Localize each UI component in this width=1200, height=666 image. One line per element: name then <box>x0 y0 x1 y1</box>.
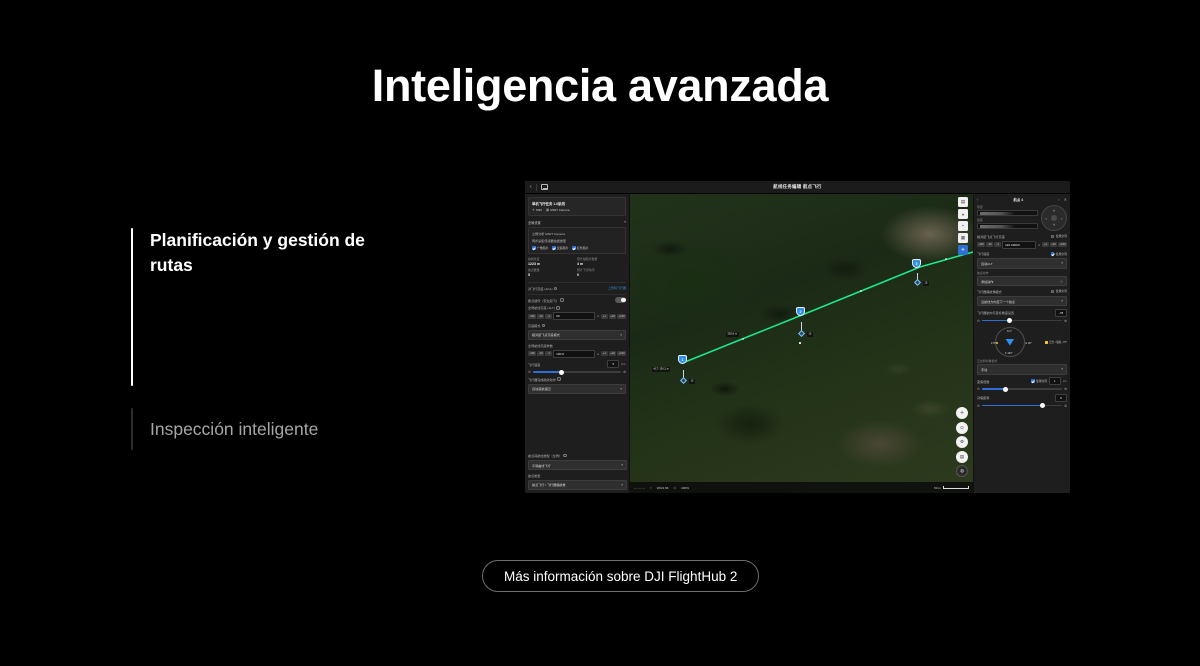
waypoint-pin[interactable]: 2 <box>796 307 805 316</box>
add-action-button[interactable]: 添加动作 ＋ <box>977 276 1067 286</box>
sidebar-item-route-planning[interactable]: Planificación y gestión de rutas <box>131 228 431 408</box>
payload-card: 立即分析 M30T Camera 同步采集传感器拍摄类型 广角照片 变焦照片 红… <box>528 227 626 254</box>
step-plus-100[interactable]: +100 <box>617 351 626 356</box>
coordinate-system-label: WGS 84 <box>657 486 669 490</box>
info-icon[interactable] <box>542 324 545 327</box>
stat-value: 5 <box>528 273 577 277</box>
sidebar-item-label: Planificación y gestión de rutas <box>150 228 382 278</box>
waypoint-1-poi[interactable] <box>681 378 686 383</box>
waypoint-2-sublabel: 15 <box>807 332 813 336</box>
zoom-icon: ⊙ <box>673 486 676 490</box>
route-alt-stepper[interactable]: -100 -10 -1 100.0 m +1 +10 +100 <box>528 350 626 358</box>
save-icon[interactable] <box>541 184 548 190</box>
poi-diamond-icon <box>798 330 805 337</box>
longitude-field[interactable] <box>977 223 1038 229</box>
mission-type-value: 航点飞行 / 飞行器偏航角 <box>532 482 566 487</box>
checkbox-infrared-photo[interactable]: 红外照片 <box>572 246 588 250</box>
checkbox-label: 广角照片 <box>537 246 549 250</box>
polygon-icon[interactable]: ▦ <box>958 233 968 243</box>
waypoint-detail-panel: ‹ 航点 4 › ✕ 纬度 经度 ˄ ˅ ‹ › 相对起飞点飞行高 <box>973 194 1070 493</box>
waypoint-marker-1[interactable]: 1 <box>678 355 687 364</box>
lost-action-select[interactable]: 平滑曲线飞行 ▾ <box>528 460 627 470</box>
chevron-left-icon[interactable]: ‹ <box>977 197 978 202</box>
stat-waypoint-count: 航点数量 5 <box>528 268 577 277</box>
heading-row: 飞行器偏航角模式 使用全局 <box>977 289 1067 294</box>
latitude-field[interactable] <box>977 210 1038 216</box>
coordinate-readout: — — — <box>634 486 645 490</box>
minus-icon[interactable]: ⊖ <box>977 319 980 323</box>
height-mode-row: 高度模式 <box>528 323 626 328</box>
stat-key: 航点数量 <box>528 268 577 272</box>
coordinate-block: 纬度 经度 ˄ ˅ ‹ › <box>977 205 1067 231</box>
checkbox-wide-photo[interactable]: 广角照片 <box>532 246 548 250</box>
finish-action-row: 飞行器完成航线动作 <box>528 377 626 382</box>
step-plus-100[interactable]: +100 <box>1058 242 1067 247</box>
checkbox-icon <box>1051 235 1054 238</box>
check-icon <box>532 246 536 250</box>
poi-chip: 15 <box>689 379 695 383</box>
step-minus-100[interactable]: -100 <box>977 242 985 247</box>
learn-more-button[interactable]: Más información sobre DJI FlightHub 2 <box>482 560 759 592</box>
checkbox-zoom-photo[interactable]: 变焦照片 <box>552 246 568 250</box>
map-status-bar: — — — ⌖ WGS 84 ⊙ 100% 50 m <box>630 482 973 493</box>
stat-value: 1223 m <box>528 262 577 266</box>
waypoint-pin[interactable]: 3 <box>912 259 921 268</box>
waypoint-1-sublabel: 15 <box>689 379 695 383</box>
global-settings-header[interactable]: 全局设置 ▾ <box>528 220 626 225</box>
dpad-center[interactable] <box>1051 215 1057 221</box>
legend-swatch <box>1045 341 1048 344</box>
minus-icon[interactable]: ⊖ <box>977 404 980 408</box>
waypoint-2-anchor <box>799 342 801 344</box>
mission-type-row: 航点类型 <box>528 473 627 478</box>
speed-slider[interactable]: ⊖ ⊕ <box>528 370 626 374</box>
chevron-down-icon: ▾ <box>1061 261 1063 265</box>
info-icon[interactable] <box>560 298 563 301</box>
step-minus-1[interactable]: -1 <box>545 314 552 319</box>
height-stepper[interactable]: -100 -10 -1 116.1900X m +1 +10 +100 <box>977 241 1067 249</box>
chevron-down-icon: ▾ <box>621 463 623 467</box>
legend-label: 云台 / 偏航 -78° <box>1049 340 1067 344</box>
progress-rail-idle <box>131 408 133 450</box>
close-icon[interactable]: ✕ <box>1064 197 1067 202</box>
height-mode-label: 高度模式 <box>528 323 540 328</box>
waypoint-icon[interactable]: ✈ <box>958 245 968 255</box>
focal-label: 对焦距离 <box>977 395 989 400</box>
dpad-icon[interactable]: ˄ ˅ ‹ › <box>1041 205 1067 231</box>
divider <box>528 282 626 283</box>
plus-icon[interactable]: ⊕ <box>1064 319 1067 323</box>
dpad-right[interactable]: › <box>1061 217 1062 221</box>
poi-chip: 15 <box>807 332 813 336</box>
info-icon[interactable] <box>556 306 559 309</box>
chevron-down-icon: ▾ <box>620 333 622 337</box>
step-minus-1[interactable]: -1 <box>545 351 552 356</box>
lost-action-label: 航点间航线类型（全局） <box>528 453 562 458</box>
slider-knob[interactable] <box>1007 318 1012 323</box>
panel-footer: 航点间航线类型（全局） 平滑曲线飞行 ▾ 航点类型 航点飞行 / 飞行器偏航角 … <box>528 451 627 490</box>
layers-stack-icon[interactable]: ▤ <box>956 451 968 463</box>
route-alt-row: 全局航线高度参数 <box>528 343 626 348</box>
checkbox-label: 使用全局 <box>1056 289 1067 293</box>
step-plus-1[interactable]: +1 <box>601 351 608 356</box>
payload-subheading: 同步采集传感器拍摄类型 <box>532 238 622 243</box>
page-title: Inteligencia avanzada <box>0 60 1200 112</box>
waypoint-pin[interactable]: 1 <box>678 355 687 364</box>
route-alt-label: 全局航线高度参数 <box>528 343 553 348</box>
zoom-global-checkbox[interactable]: 使用全局 <box>1031 379 1047 383</box>
plus-icon[interactable]: ⊕ <box>1064 404 1067 408</box>
height-label: 相对起飞点飞行高度 <box>977 234 1005 239</box>
altitude-chip: ALT: 136.2 m <box>652 367 670 371</box>
chevron-down-icon: ▾ <box>620 387 622 391</box>
height-row: 相对起飞点飞行高度 使用全局 <box>977 234 1067 239</box>
alt-value[interactable]: 20 <box>553 312 595 320</box>
stat-flight-time: 预计飞行时间 0 <box>577 268 626 277</box>
resume-toggle[interactable] <box>615 297 626 302</box>
camera-icon: ▣ <box>546 208 549 212</box>
segment-distance-label: 355.8 m <box>726 332 739 336</box>
checkbox-label: 使用全局 <box>1036 379 1047 383</box>
step-minus-100[interactable]: -100 <box>528 314 536 319</box>
finish-action-label: 飞行器完成航线动作 <box>528 377 556 382</box>
payload-label: M30T Camera <box>550 208 569 212</box>
height-unit: m <box>1037 243 1041 247</box>
coordinate-system-icon: ⌖ <box>650 486 652 490</box>
mission-stats: 航线长度 1223 m 预计拍照片数量 4 m 航点数量 5 预计飞行时间 0 <box>528 257 626 279</box>
globe-icon[interactable]: ◍ <box>956 465 968 477</box>
check-icon <box>552 246 556 250</box>
flight-route <box>630 194 973 493</box>
settings-icon[interactable]: ⚙ <box>956 436 968 448</box>
learn-more-button-label: Más información sobre DJI FlightHub 2 <box>504 569 737 584</box>
gimbal-row: 飞行器航向与目标角度设置 -78 <box>977 309 1067 317</box>
plus-icon[interactable]: ⊕ <box>1064 387 1067 391</box>
lost-action-value: 平滑曲线飞行 <box>532 463 551 468</box>
zoom-slider[interactable]: ⊖ ⊕ <box>977 387 1067 391</box>
resume-label: 断点续传（安全起飞） <box>528 298 559 303</box>
speed-label: 飞行速度 <box>528 362 540 367</box>
step-plus-10[interactable]: +10 <box>609 351 616 356</box>
pin-icon[interactable]: ⌖ <box>958 209 968 219</box>
waypoint-panel-title: 航点 4 <box>1014 197 1024 202</box>
chevron-down-icon: ▾ <box>1061 299 1063 303</box>
compass-rose-icon[interactable]: ✛ <box>956 407 968 419</box>
map-toolbar: ▤ ⌖ ⌁ ▦ ✈ <box>958 197 968 255</box>
chevron-down-icon: ▾ <box>621 483 623 487</box>
map-controls: ✛ ⊙ ⚙ ▤ ◍ <box>956 407 968 477</box>
zoom-unit: x/s <box>1062 379 1067 383</box>
agl-label: 对飞行高度 (AGL) <box>528 286 553 291</box>
step-minus-1[interactable]: -1 <box>994 242 1001 247</box>
poi-diamond-icon <box>680 377 687 384</box>
latitude-label: 纬度 <box>977 205 1038 209</box>
app-title: 航线任务编辑 航点飞行 <box>525 184 1070 190</box>
slider-knob[interactable] <box>1003 387 1008 392</box>
chevron-right-icon[interactable]: › <box>1058 197 1059 202</box>
map-canvas[interactable]: 1 ALT: 136.2 m 15 2 15 3 <box>630 194 973 493</box>
zoom-label: 变焦倍数 <box>977 379 989 384</box>
waypoint-3-poi[interactable] <box>915 280 920 285</box>
flighthub-app-screenshot: 航线任务编辑 航点飞行 ‹ 单机飞行任务 1-0航线 ✈ M30 ▣ M30T … <box>525 181 1070 493</box>
slider-fill <box>533 371 561 372</box>
poi-select[interactable]: 手动 ▾ <box>977 364 1067 374</box>
chevron-down-icon: ▾ <box>1061 367 1063 371</box>
stat-key: 预计飞行时间 <box>577 268 626 272</box>
feature-nav: Planificación y gestión de rutas Inspecc… <box>131 228 431 442</box>
waypoint-marker-3[interactable]: 3 <box>912 259 921 268</box>
dpad-down[interactable]: ˅ <box>1053 223 1055 227</box>
heading-compass[interactable]: N 0° 270° E 90° S 180° <box>995 327 1025 357</box>
speed-select[interactable]: 自动ALT ▾ <box>977 258 1067 268</box>
zoom-value[interactable]: 1 <box>1049 377 1061 385</box>
scale-bar <box>943 486 969 489</box>
waypoint-marker-2[interactable]: 2 <box>796 307 805 316</box>
resume-toggle-row: 断点续传（安全起飞） <box>528 297 626 302</box>
dpad-up[interactable]: ˄ <box>1053 209 1055 213</box>
polyline-icon[interactable]: ⌁ <box>958 221 968 231</box>
gimbal-value[interactable]: -78 <box>1055 309 1067 317</box>
finish-action-select[interactable]: 自动返航返回 ▾ <box>528 384 626 394</box>
zoom-row: 变焦倍数 使用全局 1 x/s <box>977 377 1067 385</box>
route-alt-unit: m <box>596 352 600 356</box>
lost-action-row: 航点间航线类型（全局） <box>528 453 627 458</box>
height-mode-select[interactable]: 相对起飞点高度模式 ▾ <box>528 330 626 340</box>
slider-knob[interactable] <box>1040 403 1045 408</box>
step-plus-100[interactable]: +100 <box>617 314 626 319</box>
step-minus-10[interactable]: -10 <box>537 314 544 319</box>
speed-select-value: 自动ALT <box>981 261 993 266</box>
info-icon[interactable] <box>563 454 566 457</box>
heading-compass-block: N 0° 270° E 90° S 180° 云台 / 偏航 -78° <box>977 325 1067 359</box>
step-minus-10[interactable]: -10 <box>537 351 544 356</box>
agl-row: 对飞行高度 (AGL) 上传到飞行器 <box>528 286 626 291</box>
app-topbar: 航线任务编辑 航点飞行 ‹ <box>525 181 1070 194</box>
checkbox-label: 红外照片 <box>577 246 589 250</box>
minus-icon[interactable]: ⊖ <box>977 387 980 391</box>
gimbal-label: 飞行器航向与目标角度设置 <box>977 310 1014 315</box>
focal-value[interactable]: 0 <box>1055 394 1067 402</box>
heading-global-checkbox[interactable]: 使用全局 <box>1051 289 1067 293</box>
longitude-label: 经度 <box>977 218 1038 222</box>
waypoint-1-label: ALT: 136.2 m <box>652 367 670 371</box>
progress-rail-active <box>131 228 133 386</box>
mission-settings-panel: 单机飞行任务 1-0航线 ✈ M30 ▣ M30T Camera 全局设置 ▾ … <box>525 194 630 493</box>
compass-marker <box>996 342 998 344</box>
stat-key: 预计拍照片数量 <box>577 257 626 261</box>
plus-icon[interactable]: ⊕ <box>623 370 626 374</box>
info-icon[interactable] <box>554 287 557 290</box>
slider-fill <box>982 320 1009 321</box>
step-minus-100[interactable]: -100 <box>528 351 536 356</box>
slider-track[interactable] <box>533 371 621 372</box>
sidebar-item-smart-inspection[interactable]: Inspección inteligente <box>131 408 431 442</box>
global-settings-label: 全局设置 <box>528 220 541 225</box>
waypoint-panel-header: ‹ 航点 4 › ✕ <box>977 197 1067 202</box>
step-minus-10[interactable]: -10 <box>986 242 993 247</box>
zoom-percent: 100% <box>681 486 689 490</box>
sidebar-item-label: Inspección inteligente <box>150 408 382 442</box>
focal-slider[interactable]: ⊖ ⊕ <box>977 404 1067 408</box>
heading-select[interactable]: 沿航线方向至下一个航点 ▾ <box>977 296 1067 306</box>
payload-chip: ▣ M30T Camera <box>546 208 570 212</box>
payload-heading: 立即分析 M30T Camera <box>532 231 622 236</box>
gimbal-slider[interactable]: ⊖ ⊕ <box>977 319 1067 323</box>
drone-icon: ✈ <box>532 208 535 212</box>
check-icon <box>1031 379 1035 383</box>
slider-knob[interactable] <box>559 370 564 375</box>
chevron-down-icon: ▾ <box>624 220 626 224</box>
stat-value: 4 m <box>577 262 626 266</box>
slider-track[interactable] <box>982 388 1062 389</box>
height-mode-value: 相对起飞点高度模式 <box>532 332 560 337</box>
aircraft-card: 单机飞行任务 1-0航线 ✈ M30 ▣ M30T Camera <box>528 197 626 216</box>
alt-label: 全局航线高度 (ALT) <box>528 305 555 310</box>
height-value[interactable]: 116.1900X <box>1002 241 1036 249</box>
aircraft-card-title: 单机飞行任务 1-0航线 <box>532 201 622 206</box>
waypoint-2-poi[interactable] <box>799 331 804 336</box>
speed-row: 飞行速度 5 m/s <box>528 360 626 368</box>
slider-fill <box>982 388 1006 389</box>
height-global-checkbox[interactable]: 使用全局 <box>1051 234 1067 238</box>
plus-icon: ＋ <box>1060 279 1063 284</box>
speed-row: 飞行速度 使用全局 <box>977 251 1067 256</box>
drone-heading-icon <box>1005 339 1014 346</box>
check-icon <box>572 246 576 250</box>
distance-chip: 355.8 m <box>726 332 739 336</box>
step-plus-10[interactable]: +10 <box>1050 242 1057 247</box>
speed-global-checkbox[interactable]: 使用全局 <box>1051 252 1067 256</box>
layers-icon[interactable]: ▤ <box>958 197 968 207</box>
finish-action-value: 自动返航返回 <box>532 386 551 391</box>
alt-row: 全局航线高度 (ALT) <box>528 305 626 310</box>
stat-value: 0 <box>577 273 626 277</box>
step-plus-1[interactable]: +1 <box>1042 242 1049 247</box>
focal-row: 对焦距离 0 <box>977 394 1067 402</box>
poi-label: 云台俯仰角模式 <box>977 359 1067 363</box>
stat-route-length: 航线长度 1223 m <box>528 257 577 266</box>
compass-north-label: N 0° <box>1007 330 1012 333</box>
minus-icon[interactable]: ⊖ <box>528 370 531 374</box>
alt-unit: m <box>596 314 600 318</box>
mission-type-label: 航点类型 <box>528 473 540 478</box>
slider-track[interactable] <box>982 405 1062 406</box>
speed-label: 飞行速度 <box>977 251 989 256</box>
device-chip: ✈ M30 <box>532 208 542 212</box>
scale-label: 50 m <box>934 486 941 490</box>
compass-east-label: E 90° <box>1026 342 1032 345</box>
checkbox-icon <box>1051 290 1054 293</box>
compass-legend: 云台 / 偏航 -78° <box>1045 340 1067 344</box>
action-label: 航点动作 <box>977 271 1067 275</box>
upload-link[interactable]: 上传到飞行器 <box>608 286 626 290</box>
speed-unit: m/s <box>620 362 626 366</box>
speed-value[interactable]: 5 <box>607 360 619 368</box>
add-action-label: 添加动作 <box>981 279 993 284</box>
map-scale: 50 m <box>934 486 969 490</box>
checkbox-label: 变焦照片 <box>557 246 569 250</box>
check-icon <box>1051 252 1055 256</box>
device-label: M30 <box>536 208 542 212</box>
poi-diamond-icon <box>914 279 921 286</box>
checkbox-label: 使用全局 <box>1056 252 1067 256</box>
mission-type-select[interactable]: 航点飞行 / 飞行器偏航角 ▾ <box>528 480 627 490</box>
checkbox-label: 使用全局 <box>1056 234 1067 238</box>
stat-key: 航线长度 <box>528 257 577 261</box>
heading-label: 飞行器偏航角模式 <box>977 289 1002 294</box>
slider-track[interactable] <box>982 320 1062 321</box>
poi-select-value: 手动 <box>981 367 987 372</box>
waypoint-3-sublabel: 15 <box>923 281 929 285</box>
step-plus-10[interactable]: +10 <box>609 314 616 319</box>
compass-south-label: S 180° <box>1005 352 1013 355</box>
route-alt-value[interactable]: 100.0 <box>553 350 595 358</box>
dpad-left[interactable]: ‹ <box>1046 217 1047 221</box>
step-plus-1[interactable]: +1 <box>601 314 608 319</box>
poi-chip: 15 <box>923 281 929 285</box>
alt-stepper[interactable]: -100 -10 -1 20 m +1 +10 +100 <box>528 312 626 320</box>
info-icon[interactable] <box>557 377 560 380</box>
heading-select-value: 沿航线方向至下一个航点 <box>981 299 1015 304</box>
stat-photo-count: 预计拍照片数量 4 m <box>577 257 626 266</box>
slider-fill <box>982 405 1042 406</box>
divider <box>528 294 626 295</box>
locate-icon[interactable]: ⊙ <box>956 422 968 434</box>
